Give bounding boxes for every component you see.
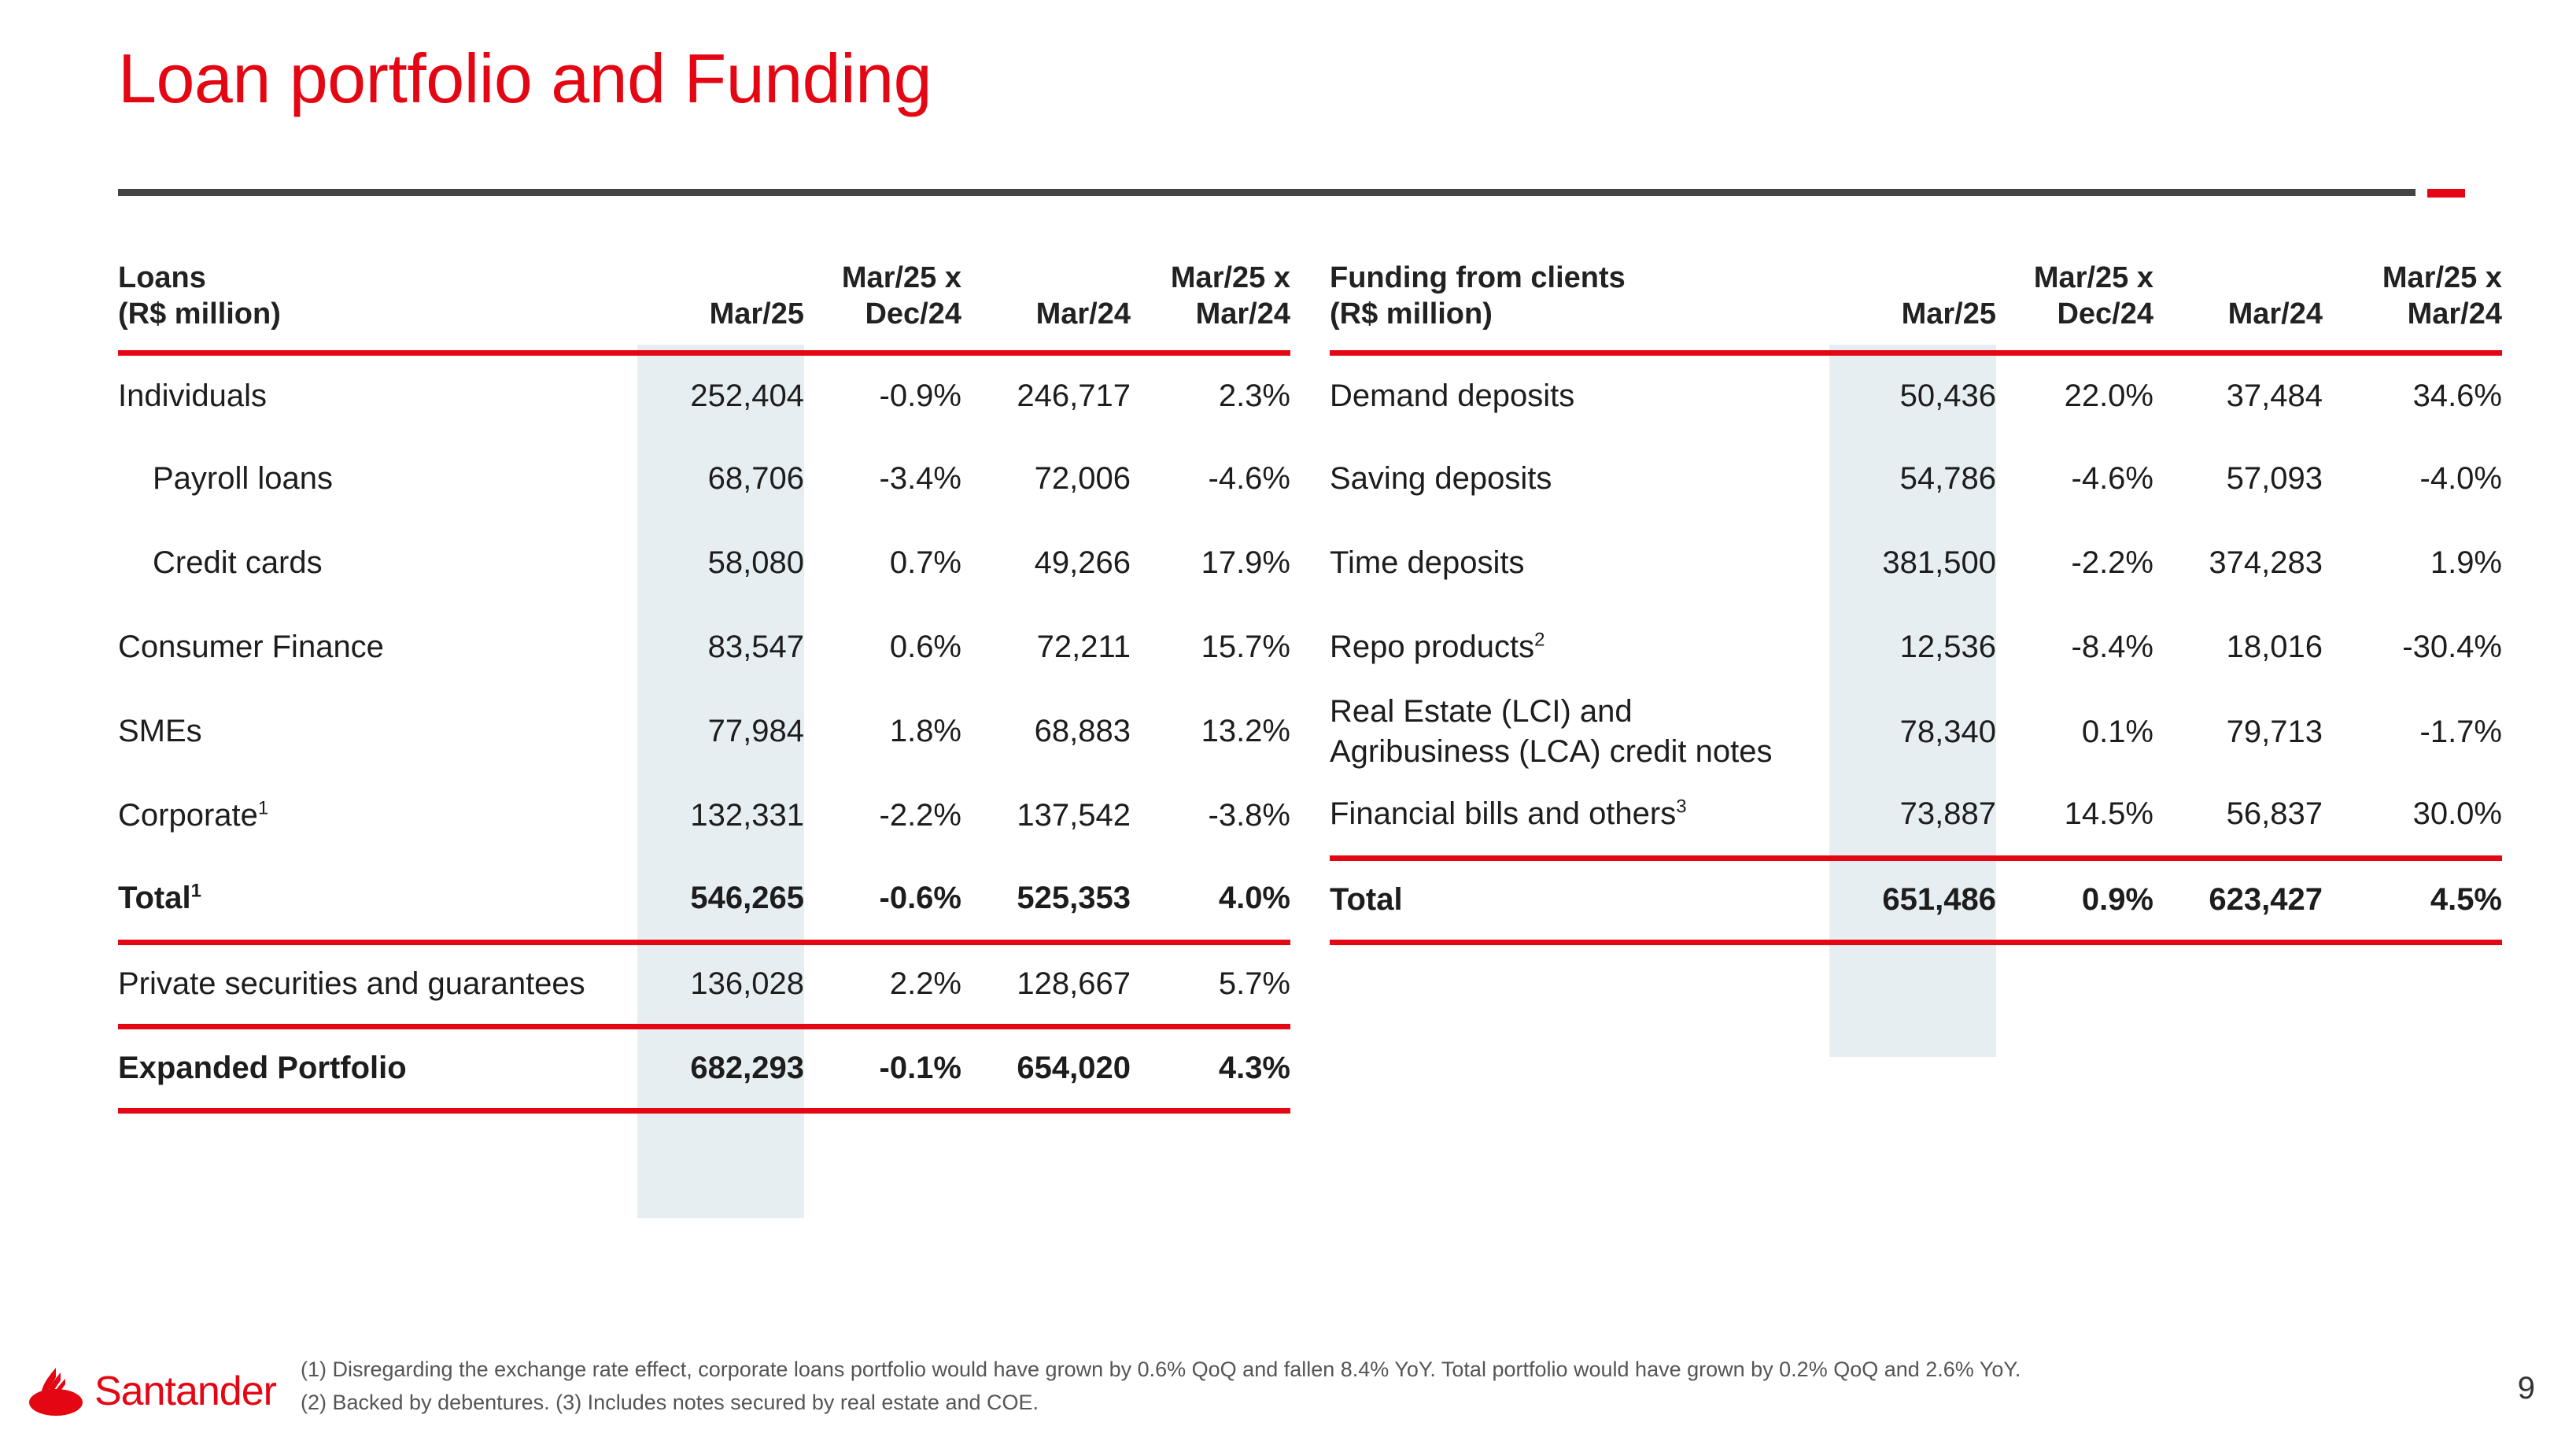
santander-wordmark: Santander bbox=[94, 1368, 276, 1415]
table-row: SMEs 77,984 1.8% 68,883 13.2% bbox=[118, 689, 1290, 774]
footnote-ref: 1 bbox=[191, 881, 201, 902]
row-mar24: 56,837 bbox=[2153, 774, 2323, 858]
row-qoq: -2.2% bbox=[1996, 521, 2153, 605]
row-mar24: 72,006 bbox=[961, 437, 1131, 521]
table-row: Corporate1 132,331 -2.2% 137,542 -3.8% bbox=[118, 774, 1290, 858]
row-label: Consumer Finance bbox=[118, 605, 637, 689]
row-label: Total1 bbox=[118, 858, 637, 942]
funding-header-mar25: Mar/25 bbox=[1829, 260, 1996, 353]
row-mar25: 132,331 bbox=[637, 774, 804, 858]
row-yoy: 15.7% bbox=[1131, 605, 1290, 689]
row-yoy: 30.0% bbox=[2323, 774, 2502, 858]
row-mar24: 128,667 bbox=[961, 942, 1131, 1026]
row-yoy: 4.5% bbox=[2323, 858, 2502, 942]
funding-header-yoy-line2: Mar/24 bbox=[2408, 297, 2502, 331]
funding-header-qoq-line2: Dec/24 bbox=[2057, 297, 2153, 331]
row-label-line1: Real Estate (LCI) and bbox=[1330, 694, 1633, 729]
row-qoq: -4.6% bbox=[1996, 437, 2153, 521]
page-title: Loan portfolio and Funding bbox=[118, 41, 932, 116]
row-label: Demand deposits bbox=[1330, 353, 1829, 437]
table-row: Real Estate (LCI) and Agribusiness (LCA)… bbox=[1330, 689, 2502, 774]
row-mar25: 682,293 bbox=[637, 1026, 804, 1110]
row-mar24: 37,484 bbox=[2153, 353, 2323, 437]
loans-header-yoy-line2: Mar/24 bbox=[1196, 297, 1290, 331]
funding-header-mar24: Mar/24 bbox=[2153, 260, 2323, 353]
row-mar24: 137,542 bbox=[961, 774, 1131, 858]
slide-root: Loan portfolio and Funding Loans (R$ mil… bbox=[0, 0, 2576, 1437]
funding-header-qoq-line1: Mar/25 x bbox=[2034, 261, 2153, 294]
row-label-text: Repo products bbox=[1330, 630, 1534, 664]
row-qoq: 0.7% bbox=[804, 521, 961, 605]
row-mar25: 73,887 bbox=[1829, 774, 1996, 858]
page-number: 9 bbox=[2518, 1371, 2535, 1406]
row-label: Private securities and guarantees bbox=[118, 942, 637, 1026]
table-row-total: Total 651,486 0.9% 623,427 4.5% bbox=[1330, 858, 2502, 942]
loans-header-label-line2: (R$ million) bbox=[118, 297, 281, 331]
footnote-1: (1) Disregarding the exchange rate effec… bbox=[301, 1354, 2021, 1387]
row-mar24: 623,427 bbox=[2153, 858, 2323, 942]
table-row-expanded-portfolio: Expanded Portfolio 682,293 -0.1% 654,020… bbox=[118, 1026, 1290, 1110]
row-qoq: -2.2% bbox=[804, 774, 961, 858]
row-mar24: 57,093 bbox=[2153, 437, 2323, 521]
row-qoq: 0.9% bbox=[1996, 858, 2153, 942]
row-mar24: 654,020 bbox=[961, 1026, 1131, 1110]
loans-header-label-line1: Loans bbox=[118, 261, 206, 294]
row-yoy: -30.4% bbox=[2323, 605, 2502, 689]
row-mar25: 68,706 bbox=[637, 437, 804, 521]
loans-header-mar24: Mar/24 bbox=[961, 260, 1131, 353]
funding-table: Funding from clients (R$ million) Mar/25… bbox=[1330, 260, 2502, 945]
row-label: Expanded Portfolio bbox=[118, 1026, 637, 1110]
row-mar25: 12,536 bbox=[1829, 605, 1996, 689]
table-row: Credit cards 58,080 0.7% 49,266 17.9% bbox=[118, 521, 1290, 605]
funding-panel: Funding from clients (R$ million) Mar/25… bbox=[1330, 260, 2502, 945]
row-label-line2: Agribusiness (LCA) credit notes bbox=[1330, 734, 1772, 769]
row-mar25: 58,080 bbox=[637, 521, 804, 605]
row-label: Real Estate (LCI) and Agribusiness (LCA)… bbox=[1330, 689, 1829, 774]
row-qoq: -0.6% bbox=[804, 858, 961, 942]
title-accent-dash bbox=[2427, 189, 2465, 198]
footnote-2-3: (2) Backed by debentures. (3) Includes n… bbox=[301, 1387, 2021, 1420]
row-mar25: 252,404 bbox=[637, 353, 804, 437]
footnote-ref: 1 bbox=[258, 798, 268, 819]
row-mar25: 77,984 bbox=[637, 689, 804, 774]
table-row: Consumer Finance 83,547 0.6% 72,211 15.7… bbox=[118, 605, 1290, 689]
row-yoy: 13.2% bbox=[1131, 689, 1290, 774]
loans-panel: Loans (R$ million) Mar/25 Mar/25 x Dec/2… bbox=[118, 260, 1290, 1114]
row-mar24: 374,283 bbox=[2153, 521, 2323, 605]
row-mar25: 546,265 bbox=[637, 858, 804, 942]
row-mar24: 79,713 bbox=[2153, 689, 2323, 774]
row-label: Financial bills and others3 bbox=[1330, 774, 1829, 858]
loans-header-yoy-line1: Mar/25 x bbox=[1171, 261, 1290, 294]
table-row: Private securities and guarantees 136,02… bbox=[118, 942, 1290, 1026]
funding-header-row: Funding from clients (R$ million) Mar/25… bbox=[1330, 260, 2502, 353]
row-qoq: 1.8% bbox=[804, 689, 961, 774]
row-label: SMEs bbox=[118, 689, 637, 774]
row-mar25: 136,028 bbox=[637, 942, 804, 1026]
row-yoy: -4.6% bbox=[1131, 437, 1290, 521]
loans-header-qoq-line2: Dec/24 bbox=[865, 297, 961, 331]
row-yoy: 34.6% bbox=[2323, 353, 2502, 437]
row-mar25: 50,436 bbox=[1829, 353, 1996, 437]
row-mar24: 72,211 bbox=[961, 605, 1131, 689]
row-yoy: 5.7% bbox=[1131, 942, 1290, 1026]
table-row: Individuals 252,404 -0.9% 246,717 2.3% bbox=[118, 353, 1290, 437]
row-yoy: 17.9% bbox=[1131, 521, 1290, 605]
funding-header-yoy: Mar/25 x Mar/24 bbox=[2323, 260, 2502, 353]
loans-table: Loans (R$ million) Mar/25 Mar/25 x Dec/2… bbox=[118, 260, 1290, 1114]
footnotes: (1) Disregarding the exchange rate effec… bbox=[301, 1354, 2021, 1420]
row-label: Time deposits bbox=[1330, 521, 1829, 605]
title-divider bbox=[118, 189, 2415, 196]
santander-logo: Santander bbox=[28, 1366, 276, 1417]
row-qoq: -8.4% bbox=[1996, 605, 2153, 689]
row-mar25: 54,786 bbox=[1829, 437, 1996, 521]
row-mar24: 18,016 bbox=[2153, 605, 2323, 689]
loans-header-qoq: Mar/25 x Dec/24 bbox=[804, 260, 961, 353]
row-qoq: -0.9% bbox=[804, 353, 961, 437]
funding-header-label-line2: (R$ million) bbox=[1330, 297, 1493, 331]
table-row: Saving deposits 54,786 -4.6% 57,093 -4.0… bbox=[1330, 437, 2502, 521]
table-row: Payroll loans 68,706 -3.4% 72,006 -4.6% bbox=[118, 437, 1290, 521]
row-yoy: -4.0% bbox=[2323, 437, 2502, 521]
row-label: Individuals bbox=[118, 353, 637, 437]
row-label: Repo products2 bbox=[1330, 605, 1829, 689]
row-mar24: 525,353 bbox=[961, 858, 1131, 942]
loans-header-yoy: Mar/25 x Mar/24 bbox=[1131, 260, 1290, 353]
loans-header-row: Loans (R$ million) Mar/25 Mar/25 x Dec/2… bbox=[118, 260, 1290, 353]
row-qoq: 22.0% bbox=[1996, 353, 2153, 437]
row-mar24: 68,883 bbox=[961, 689, 1131, 774]
funding-header-qoq: Mar/25 x Dec/24 bbox=[1996, 260, 2153, 353]
row-yoy: -3.8% bbox=[1131, 774, 1290, 858]
loans-header-label: Loans (R$ million) bbox=[118, 260, 637, 353]
loans-header-mar25: Mar/25 bbox=[637, 260, 804, 353]
row-mar25: 78,340 bbox=[1829, 689, 1996, 774]
funding-header-label-line1: Funding from clients bbox=[1330, 261, 1626, 294]
row-qoq: -3.4% bbox=[804, 437, 961, 521]
row-yoy: 2.3% bbox=[1131, 353, 1290, 437]
row-mar25: 83,547 bbox=[637, 605, 804, 689]
table-row: Time deposits 381,500 -2.2% 374,283 1.9% bbox=[1330, 521, 2502, 605]
row-label: Payroll loans bbox=[118, 437, 637, 521]
row-label: Saving deposits bbox=[1330, 437, 1829, 521]
row-mar24: 49,266 bbox=[961, 521, 1131, 605]
table-row: Repo products2 12,536 -8.4% 18,016 -30.4… bbox=[1330, 605, 2502, 689]
row-label-text: Corporate bbox=[118, 798, 258, 833]
row-label: Corporate1 bbox=[118, 774, 637, 858]
row-label: Credit cards bbox=[118, 521, 637, 605]
table-row: Financial bills and others3 73,887 14.5%… bbox=[1330, 774, 2502, 858]
row-qoq: 0.6% bbox=[804, 605, 961, 689]
row-yoy: -1.7% bbox=[2323, 689, 2502, 774]
row-qoq: 14.5% bbox=[1996, 774, 2153, 858]
funding-header-label: Funding from clients (R$ million) bbox=[1330, 260, 1829, 353]
funding-header-yoy-line1: Mar/25 x bbox=[2382, 261, 2502, 294]
footnote-ref: 2 bbox=[1534, 630, 1544, 651]
row-qoq: -0.1% bbox=[804, 1026, 961, 1110]
row-label-text: Financial bills and others bbox=[1330, 796, 1676, 831]
row-label: Total bbox=[1330, 858, 1829, 942]
footnote-ref: 3 bbox=[1676, 796, 1686, 818]
row-qoq: 0.1% bbox=[1996, 689, 2153, 774]
row-mar25: 651,486 bbox=[1829, 858, 1996, 942]
row-yoy: 4.0% bbox=[1131, 858, 1290, 942]
row-mar25: 381,500 bbox=[1829, 521, 1996, 605]
table-row: Demand deposits 50,436 22.0% 37,484 34.6… bbox=[1330, 353, 2502, 437]
row-mar24: 246,717 bbox=[961, 353, 1131, 437]
row-label-text: Total bbox=[118, 881, 191, 915]
row-yoy: 1.9% bbox=[2323, 521, 2502, 605]
loans-header-qoq-line1: Mar/25 x bbox=[842, 261, 961, 294]
santander-flame-icon bbox=[28, 1366, 83, 1417]
table-row-total: Total1 546,265 -0.6% 525,353 4.0% bbox=[118, 858, 1290, 942]
row-qoq: 2.2% bbox=[804, 942, 961, 1026]
row-yoy: 4.3% bbox=[1131, 1026, 1290, 1110]
